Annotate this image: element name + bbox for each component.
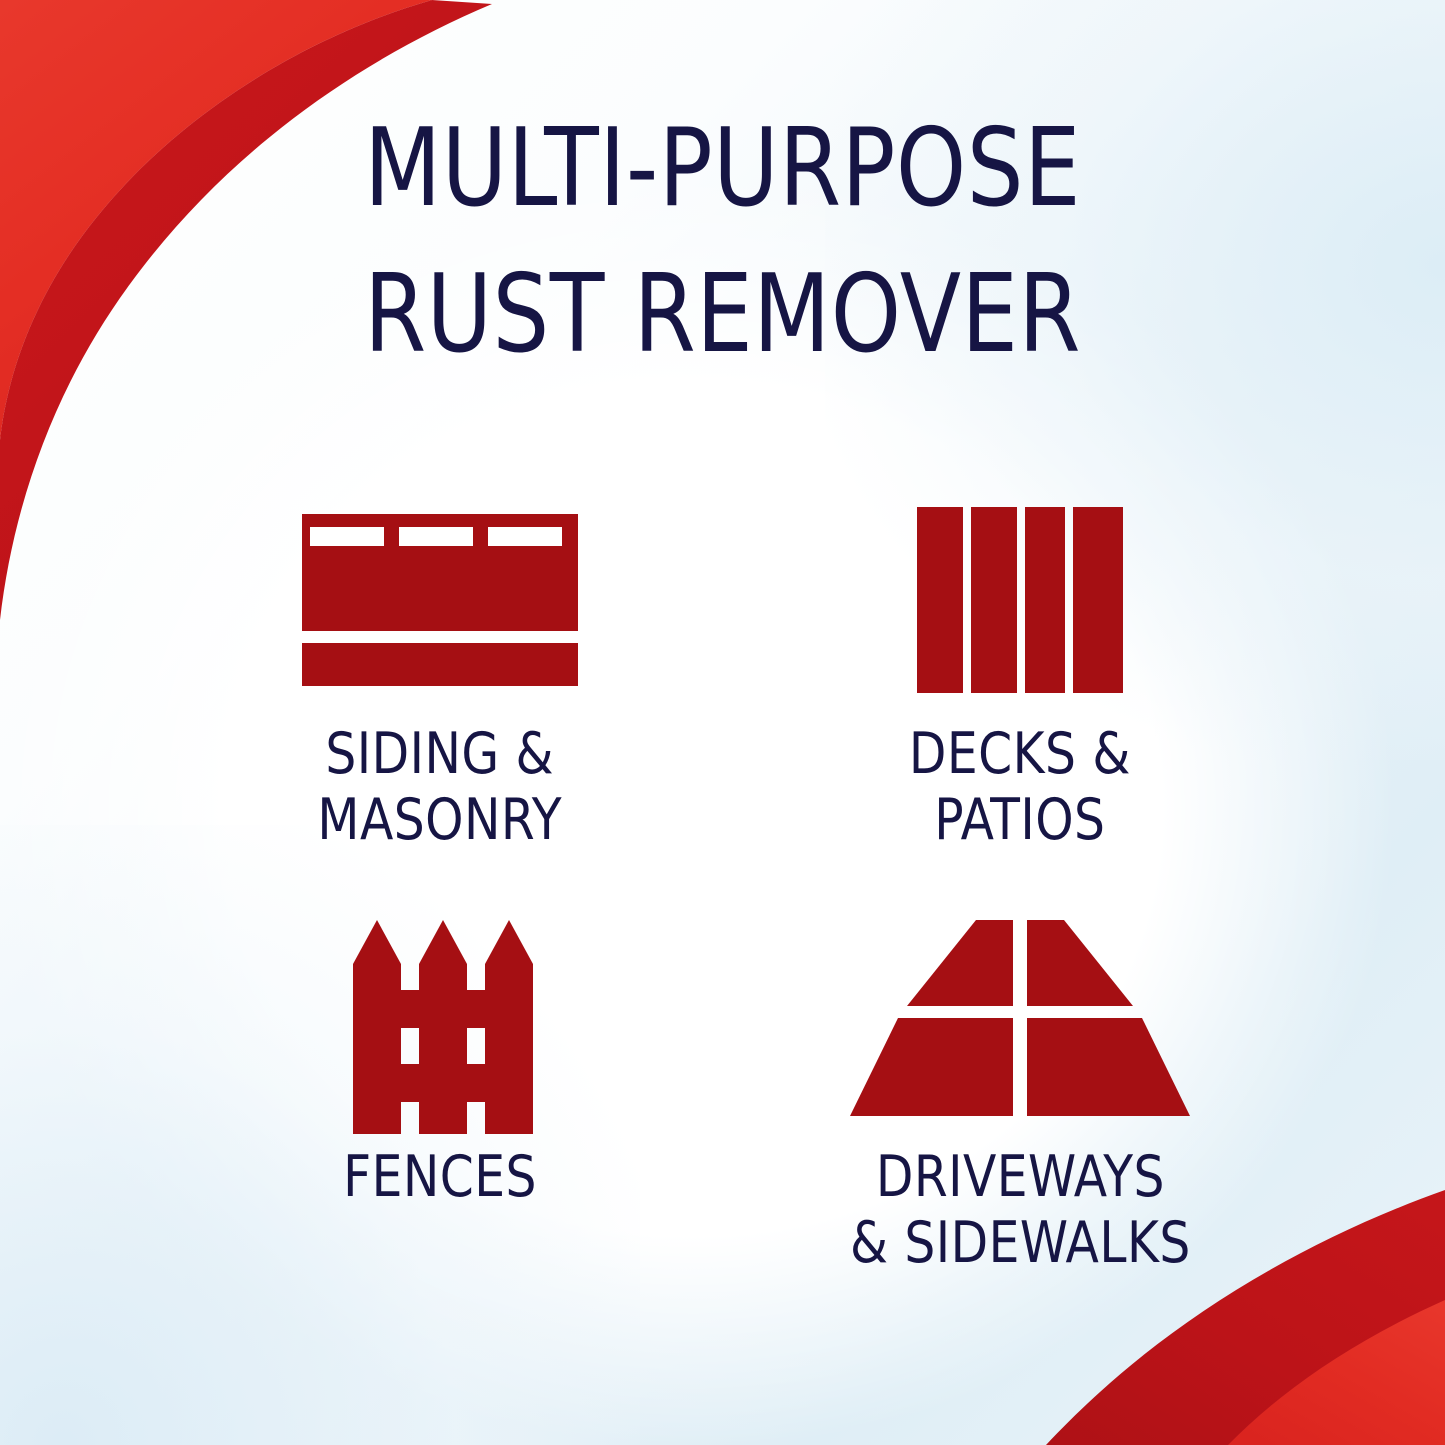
feature-driveways-sidewalks: DRIVEWAYS & SIDEWALKS	[730, 900, 1310, 1300]
feature-siding-masonry: SIDING & MASONRY	[150, 500, 730, 900]
siding-icon	[302, 500, 578, 700]
feature-label-fences: FENCES	[343, 1145, 537, 1211]
feature-label-siding-masonry: SIDING & MASONRY	[318, 722, 563, 853]
title-line-1: MULTI-PURPOSE	[58, 96, 1387, 242]
feature-label-driveways-sidewalks: DRIVEWAYS & SIDEWALKS	[850, 1145, 1191, 1276]
fence-icon	[335, 900, 545, 1135]
poster-canvas: MULTI-PURPOSE RUST REMOVER SIDING & MASO…	[0, 0, 1445, 1445]
feature-grid: SIDING & MASONRY DECKS & PATIOS	[150, 500, 1310, 1300]
feature-label-decks-patios: DECKS & PATIOS	[909, 722, 1131, 853]
decks-icon	[917, 500, 1123, 700]
title-line-2: RUST REMOVER	[58, 242, 1387, 388]
feature-fences: FENCES	[150, 900, 730, 1300]
page-title: MULTI-PURPOSE RUST REMOVER	[0, 96, 1445, 388]
driveway-icon	[850, 900, 1190, 1135]
feature-decks-patios: DECKS & PATIOS	[730, 500, 1310, 900]
